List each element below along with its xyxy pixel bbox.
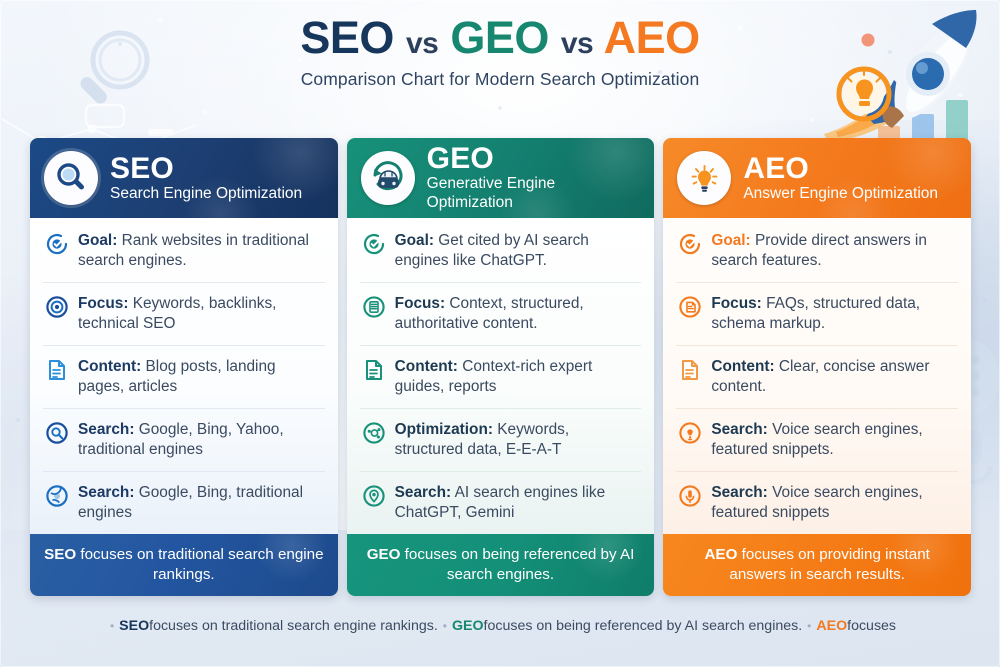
- row-text: Goal: Provide direct answers in search f…: [711, 231, 956, 271]
- target-check-icon: [45, 232, 69, 256]
- search-circle-icon: [45, 421, 69, 445]
- row-search-1-seo: Search: Google, Bing, Yahoo, traditional…: [43, 408, 325, 471]
- page-title: SEO vs GEO vs AEO: [0, 14, 1000, 61]
- row-text: Content: Context-rich expert guides, rep…: [395, 357, 640, 397]
- bottom-summary-strip: • SEO focuses on traditional search engi…: [30, 604, 971, 648]
- title-aeo: AEO: [604, 12, 700, 63]
- ai-engine-badge-icon: [361, 151, 415, 205]
- globe-circle-icon: [45, 484, 69, 508]
- title-geo: GEO: [450, 12, 549, 63]
- document-icon: [45, 358, 69, 382]
- row-label: Focus:: [78, 295, 128, 312]
- column-full-aeo: Answer Engine Optimization: [743, 185, 938, 204]
- row-content-geo: Content: Context-rich expert guides, rep…: [360, 345, 642, 408]
- footer-keyword: SEO: [44, 546, 76, 563]
- column-title-block-seo: SEO Search Engine Optimization: [110, 153, 302, 204]
- strip-keyword-geo: GEO: [452, 618, 484, 634]
- column-body-seo: Goal: Rank websites in traditional searc…: [30, 218, 338, 534]
- footer-keyword: GEO: [367, 546, 401, 563]
- column-abbr-seo: SEO: [110, 153, 302, 184]
- row-text: Focus: Context, structured, authoritativ…: [395, 294, 640, 334]
- voice-bulb-icon: [678, 421, 702, 445]
- row-label: Goal:: [78, 232, 117, 249]
- column-abbr-geo: GEO: [427, 143, 641, 174]
- row-text: Search: Google, Bing, traditional engine…: [78, 483, 323, 523]
- row-optimization-geo: Optimization: Keywords, structured data,…: [360, 408, 642, 471]
- lightbulb-badge-icon: [677, 151, 731, 205]
- column-footer-aeo: AEO focuses on providing instant answers…: [663, 534, 971, 596]
- strip-keyword-seo: SEO: [119, 618, 149, 634]
- column-title-block-geo: GEO Generative Engine Optimization: [427, 143, 641, 212]
- column-header-seo: SEO Search Engine Optimization: [30, 138, 338, 218]
- row-label: Search:: [395, 484, 451, 501]
- title-vs-1: vs: [406, 27, 438, 60]
- page-header: SEO vs GEO vs AEO Comparison Chart for M…: [0, 14, 1000, 90]
- row-label: Focus:: [711, 295, 761, 312]
- lines-circle-icon: [362, 295, 386, 319]
- row-focus-geo: Focus: Context, structured, authoritativ…: [360, 282, 642, 345]
- row-goal-seo: Goal: Rank websites in traditional searc…: [43, 218, 325, 282]
- row-goal-geo: Goal: Get cited by AI search engines lik…: [360, 218, 642, 282]
- strip-text-geo: focuses on being referenced by AI search…: [484, 618, 803, 634]
- column-body-aeo: Goal: Provide direct answers in search f…: [663, 218, 971, 534]
- row-text: Search: AI search engines like ChatGPT, …: [395, 483, 640, 523]
- column-seo: SEO Search Engine Optimization Goal: Ran…: [30, 138, 338, 596]
- title-vs-2: vs: [561, 27, 593, 60]
- location-pin-icon: [362, 484, 386, 508]
- row-search-2-seo: Search: Google, Bing, traditional engine…: [43, 471, 325, 534]
- page-subtitle: Comparison Chart for Modern Search Optim…: [0, 69, 1000, 90]
- row-label: Content:: [78, 358, 141, 375]
- strip-text-aeo: focuses: [847, 618, 896, 634]
- column-aeo: AEO Answer Engine Optimization Goal: Pro…: [663, 138, 971, 596]
- row-text: Search: Google, Bing, Yahoo, traditional…: [78, 420, 323, 460]
- column-header-aeo: AEO Answer Engine Optimization: [663, 138, 971, 218]
- row-text: Content: Blog posts, landing pages, arti…: [78, 357, 323, 397]
- network-circle-icon: [362, 421, 386, 445]
- row-text: Focus: Keywords, backlinks, technical SE…: [78, 294, 323, 334]
- row-text: Content: Clear, concise answer content.: [711, 357, 956, 397]
- target-check-icon: [678, 232, 702, 256]
- row-label: Goal:: [395, 232, 434, 249]
- column-abbr-aeo: AEO: [743, 153, 938, 184]
- magnifier-badge-icon: [44, 151, 98, 205]
- row-label: Search:: [711, 421, 767, 438]
- column-body-geo: Goal: Get cited by AI search engines lik…: [347, 218, 655, 534]
- row-label: Optimization:: [395, 421, 493, 438]
- bullseye-icon: [45, 295, 69, 319]
- infographic-page: SEO vs GEO vs AEO Comparison Chart for M…: [0, 0, 1000, 667]
- footer-text: focuses on traditional search engine ran…: [76, 546, 323, 583]
- footer-keyword: AEO: [704, 546, 737, 563]
- row-focus-seo: Focus: Keywords, backlinks, technical SE…: [43, 282, 325, 345]
- row-label: Goal:: [711, 232, 750, 249]
- column-full-seo: Search Engine Optimization: [110, 185, 302, 204]
- faq-circle-icon: [678, 295, 702, 319]
- column-title-block-aeo: AEO Answer Engine Optimization: [743, 153, 938, 204]
- row-text: Goal: Get cited by AI search engines lik…: [395, 231, 640, 271]
- row-label: Content:: [395, 358, 458, 375]
- row-content-aeo: Content: Clear, concise answer content.: [676, 345, 958, 408]
- row-goal-aeo: Goal: Provide direct answers in search f…: [676, 218, 958, 282]
- row-search-geo: Search: AI search engines like ChatGPT, …: [360, 471, 642, 534]
- bullet-1: •: [110, 619, 114, 633]
- row-label: Search:: [78, 421, 134, 438]
- target-check-icon: [362, 232, 386, 256]
- row-label: Content:: [711, 358, 774, 375]
- row-focus-aeo: Focus: FAQs, structured data, schema mar…: [676, 282, 958, 345]
- microphone-icon: [678, 484, 702, 508]
- document-icon: [362, 358, 386, 382]
- strip-keyword-aeo: AEO: [816, 618, 847, 634]
- column-footer-geo: GEO focuses on being referenced by AI se…: [347, 534, 655, 596]
- row-text: Search: Voice search engines, featured s…: [711, 483, 956, 523]
- row-text: Goal: Rank websites in traditional searc…: [78, 231, 323, 271]
- row-content-seo: Content: Blog posts, landing pages, arti…: [43, 345, 325, 408]
- document-icon: [678, 358, 702, 382]
- row-label: Focus:: [395, 295, 445, 312]
- strip-text-seo: focuses on traditional search engine ran…: [149, 618, 438, 634]
- row-text: Focus: FAQs, structured data, schema mar…: [711, 294, 956, 334]
- row-text: Optimization: Keywords, structured data,…: [395, 420, 640, 460]
- title-seo: SEO: [300, 12, 394, 63]
- column-full-geo: Generative Engine Optimization: [427, 175, 641, 212]
- column-footer-seo: SEO focuses on traditional search engine…: [30, 534, 338, 596]
- bullet-3: •: [807, 619, 811, 633]
- row-search-1-aeo: Search: Voice search engines, featured s…: [676, 408, 958, 471]
- comparison-columns: SEO Search Engine Optimization Goal: Ran…: [30, 138, 971, 596]
- row-label: Search:: [78, 484, 134, 501]
- column-header-geo: GEO Generative Engine Optimization: [347, 138, 655, 218]
- row-text: Search: Voice search engines, featured s…: [711, 420, 956, 460]
- column-geo: GEO Generative Engine Optimization Goal:…: [347, 138, 655, 596]
- footer-text: focuses on providing instant answers in …: [729, 546, 930, 583]
- row-search-2-aeo: Search: Voice search engines, featured s…: [676, 471, 958, 534]
- footer-text: focuses on being referenced by AI search…: [400, 546, 634, 583]
- bullet-2: •: [443, 619, 447, 633]
- row-label: Search:: [711, 484, 767, 501]
